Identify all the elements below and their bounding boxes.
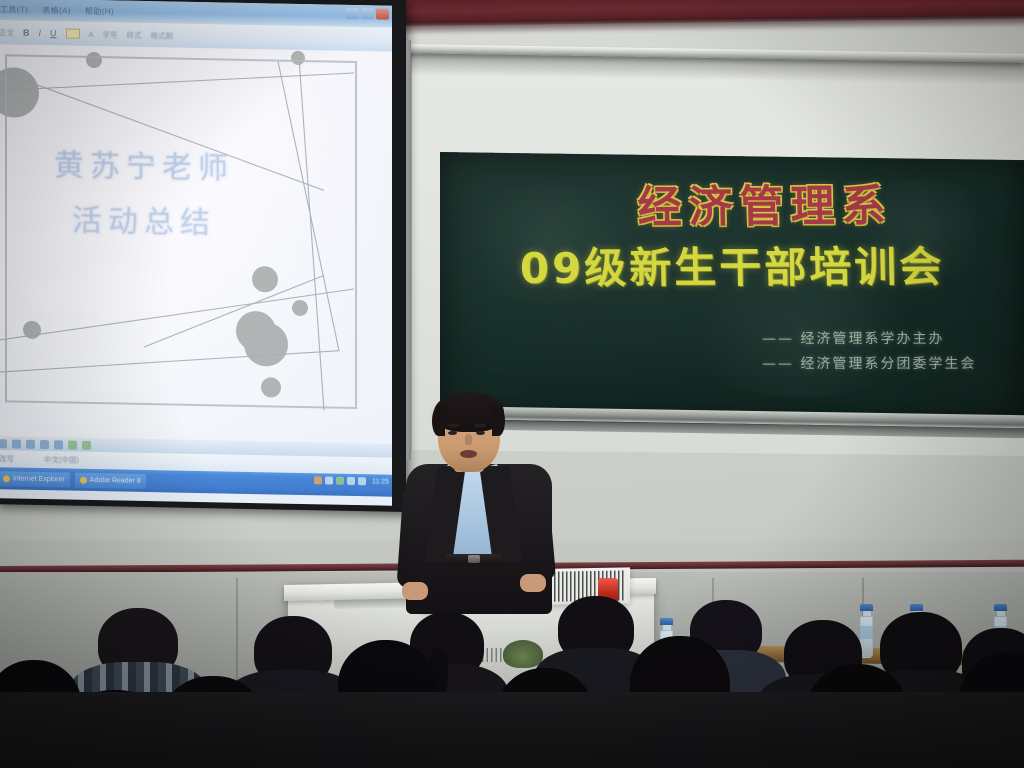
underline-button[interactable]: U: [50, 28, 57, 38]
speaker-mouth: [460, 450, 477, 458]
menu-item-table[interactable]: 表格(A): [42, 5, 71, 17]
lecture-hall-photo: 经济管理系 09级新生干部培训会 —— 经济管理系学办主办 —— 经济管理系分团…: [0, 0, 1024, 768]
bold-button[interactable]: B: [23, 28, 30, 38]
status-language: 中文(中国): [44, 454, 79, 466]
pen-icon[interactable]: [325, 476, 333, 484]
projection-screen-frame: 工具(T) 表格(A) 帮助(H) 正文 B I U A 字号 样式 格式刷: [0, 0, 406, 512]
taskbar-item-reader[interactable]: Adobe Reader 8: [75, 472, 146, 488]
slide-title: 黄苏宁老师: [0, 139, 294, 189]
textbox-tool-icon[interactable]: [54, 440, 63, 449]
oval-tool-icon[interactable]: [40, 439, 49, 448]
fill-color-icon[interactable]: [68, 440, 77, 449]
line-color-icon[interactable]: [82, 440, 91, 449]
reader-icon: [80, 476, 87, 483]
belt-buckle: [468, 555, 480, 563]
taskbar-item-ie-label: Internet Explorer: [13, 475, 65, 483]
potted-plant: [503, 640, 543, 668]
format-painter-button[interactable]: 格式刷: [151, 30, 174, 41]
foreground-dark-band: [0, 692, 1024, 768]
shield-icon[interactable]: [314, 476, 322, 484]
bottle-cap: [910, 604, 923, 611]
highlight-color-icon[interactable]: [66, 28, 80, 38]
font-color-button[interactable]: A: [89, 29, 94, 38]
speaker-hair-left: [432, 406, 445, 436]
menu-item-help[interactable]: 帮助(H): [85, 5, 114, 17]
taskbar-item-reader-label: Adobe Reader 8: [90, 476, 141, 484]
blackboard-title: 经济管理系: [549, 169, 980, 236]
taskbar-clock: 11:25: [372, 478, 389, 485]
speaker-eye-right: [476, 431, 485, 435]
bottle-cap: [660, 618, 673, 625]
wall-panel-seam: [236, 578, 238, 688]
blackboard-credit-line-2: —— 经济管理系分团委学生会: [762, 353, 977, 373]
blackboard: 经济管理系 09级新生干部培训会 —— 经济管理系学办主办 —— 经济管理系分团…: [440, 152, 1024, 428]
arrow-tool-icon[interactable]: [12, 439, 21, 448]
blackboard-subtitle: 09级新生干部培训会: [452, 233, 1013, 296]
taskbar-item-ie[interactable]: Internet Explorer: [0, 471, 70, 487]
bottle-cap: [994, 604, 1007, 611]
network-icon[interactable]: [336, 477, 344, 485]
display-icon[interactable]: [347, 477, 355, 485]
italic-button[interactable]: I: [39, 28, 42, 38]
slide-canvas: 黄苏宁老师 活动总结: [0, 44, 392, 444]
bottle-label: [860, 626, 873, 639]
rect-tool-icon[interactable]: [26, 439, 35, 448]
ie-icon: [3, 475, 10, 482]
speaker-eye-left: [448, 431, 457, 435]
speaker-hair-right: [492, 406, 505, 436]
restore-icon[interactable]: [361, 8, 374, 19]
speaker-brow-left: [447, 424, 459, 427]
minimize-icon[interactable]: [346, 8, 359, 19]
close-icon[interactable]: [376, 8, 389, 19]
font-size-button[interactable]: 字号: [103, 29, 118, 40]
style-button[interactable]: 样式: [127, 29, 142, 40]
system-tray[interactable]: 11:25: [314, 476, 389, 485]
bottle-cap: [860, 604, 873, 611]
line-tool-icon[interactable]: [0, 439, 7, 448]
slide-subtitle: 活动总结: [0, 194, 294, 244]
menu-item-tools[interactable]: 工具(T): [0, 4, 28, 16]
volume-icon[interactable]: [358, 477, 366, 485]
window-controls[interactable]: [346, 8, 389, 20]
speaker-figure: [398, 392, 558, 607]
speaker-brow-right: [474, 424, 486, 427]
speaker-hand-right: [520, 574, 546, 592]
blackboard-credit-line-1: —— 经济管理系学办主办: [762, 328, 945, 348]
status-overwrite: 改写: [0, 453, 14, 464]
speaker-nose: [465, 434, 472, 445]
style-selector[interactable]: 正文: [0, 27, 14, 38]
projection-screen: 工具(T) 表格(A) 帮助(H) 正文 B I U A 字号 样式 格式刷: [0, 0, 392, 506]
speaker-hand-left: [402, 582, 428, 600]
